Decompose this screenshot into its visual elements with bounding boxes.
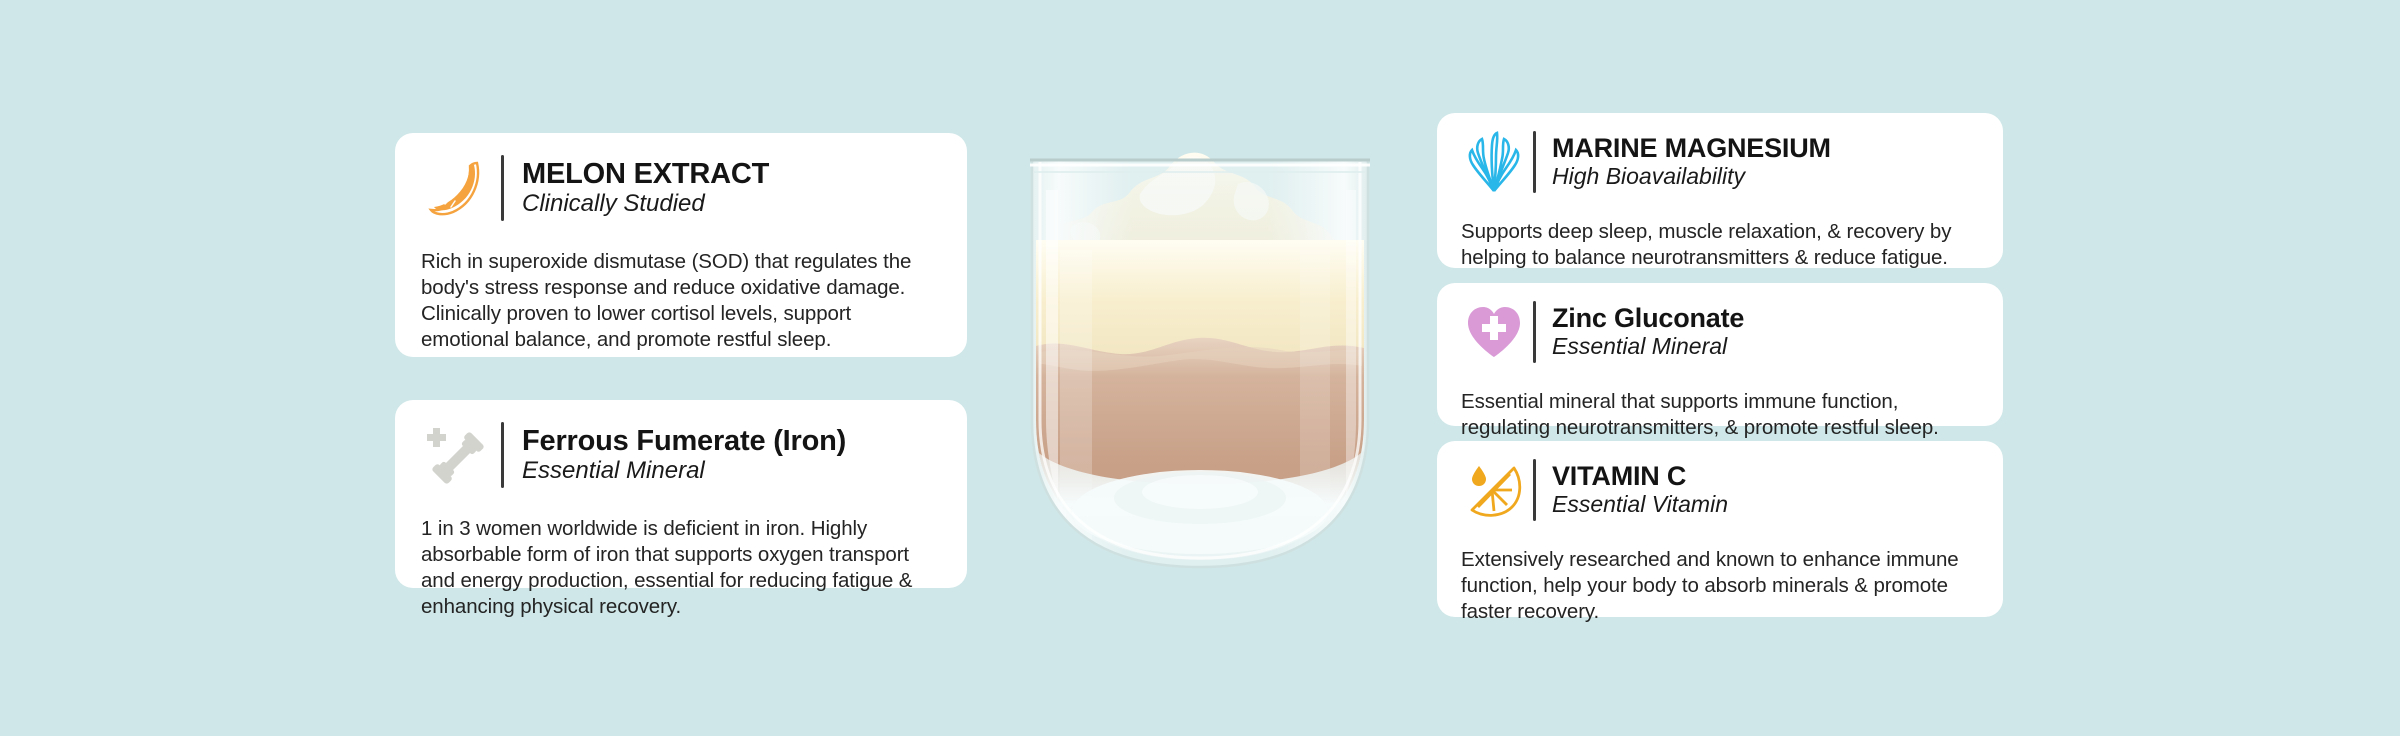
ingredient-description: Supports deep sleep, muscle relaxation, …: [1461, 219, 1979, 271]
seaweed-icon: [1461, 129, 1527, 195]
ingredient-card-vitamin-c: VITAMIN C Essential Vitamin Extensively …: [1437, 441, 2003, 617]
card-header: MARINE MAGNESIUM High Bioavailability: [1461, 129, 1979, 205]
ingredient-title: VITAMIN C: [1552, 462, 1728, 491]
ingredient-title: Zinc Gluconate: [1552, 304, 1744, 333]
ingredient-title: Ferrous Fumerate (Iron): [522, 426, 846, 457]
card-titles: MELON EXTRACT Clinically Studied: [522, 159, 769, 218]
card-header: MELON EXTRACT Clinically Studied: [421, 151, 941, 235]
ingredient-subtitle: Essential Vitamin: [1552, 492, 1728, 517]
heart-plus-icon: [1461, 299, 1527, 365]
card-header: VITAMIN C Essential Vitamin: [1461, 457, 1979, 533]
ingredient-subtitle: Essential Mineral: [522, 458, 846, 484]
header-divider: [1533, 301, 1536, 363]
ingredient-subtitle: High Bioavailability: [1552, 164, 1831, 189]
melon-slice-icon: [421, 151, 495, 225]
card-header: Zinc Gluconate Essential Mineral: [1461, 299, 1979, 375]
ingredient-benefits-panel: MELON EXTRACT Clinically Studied Rich in…: [0, 0, 2400, 736]
ingredient-description: Essential mineral that supports immune f…: [1461, 389, 1979, 441]
dumbbell-plus-icon: [421, 418, 495, 492]
ingredient-subtitle: Essential Mineral: [1552, 334, 1744, 359]
header-divider: [501, 155, 504, 221]
ingredient-description: 1 in 3 women worldwide is deficient in i…: [421, 516, 941, 620]
card-titles: MARINE MAGNESIUM High Bioavailability: [1552, 134, 1831, 189]
ingredient-title: MARINE MAGNESIUM: [1552, 134, 1831, 163]
ingredient-card-zinc-gluconate: Zinc Gluconate Essential Mineral Essenti…: [1437, 283, 2003, 426]
ingredient-subtitle: Clinically Studied: [522, 191, 769, 217]
double-wall-glass: [1030, 160, 1370, 567]
header-divider: [1533, 459, 1536, 521]
card-titles: Ferrous Fumerate (Iron) Essential Minera…: [522, 426, 846, 485]
ingredient-card-ferrous-fumerate: Ferrous Fumerate (Iron) Essential Minera…: [395, 400, 967, 588]
header-divider: [501, 422, 504, 488]
citrus-slice-droplet-icon: [1461, 457, 1527, 523]
header-divider: [1533, 131, 1536, 193]
card-header: Ferrous Fumerate (Iron) Essential Minera…: [421, 418, 941, 502]
card-titles: Zinc Gluconate Essential Mineral: [1552, 304, 1744, 359]
ingredient-description: Rich in superoxide dismutase (SOD) that …: [421, 249, 941, 353]
product-drink-image: [1000, 120, 1400, 600]
ingredient-card-marine-magnesium: MARINE MAGNESIUM High Bioavailability Su…: [1437, 113, 2003, 268]
ingredient-title: MELON EXTRACT: [522, 159, 769, 190]
ingredient-card-melon-extract: MELON EXTRACT Clinically Studied Rich in…: [395, 133, 967, 357]
card-titles: VITAMIN C Essential Vitamin: [1552, 462, 1728, 517]
ingredient-description: Extensively researched and known to enha…: [1461, 547, 1979, 625]
